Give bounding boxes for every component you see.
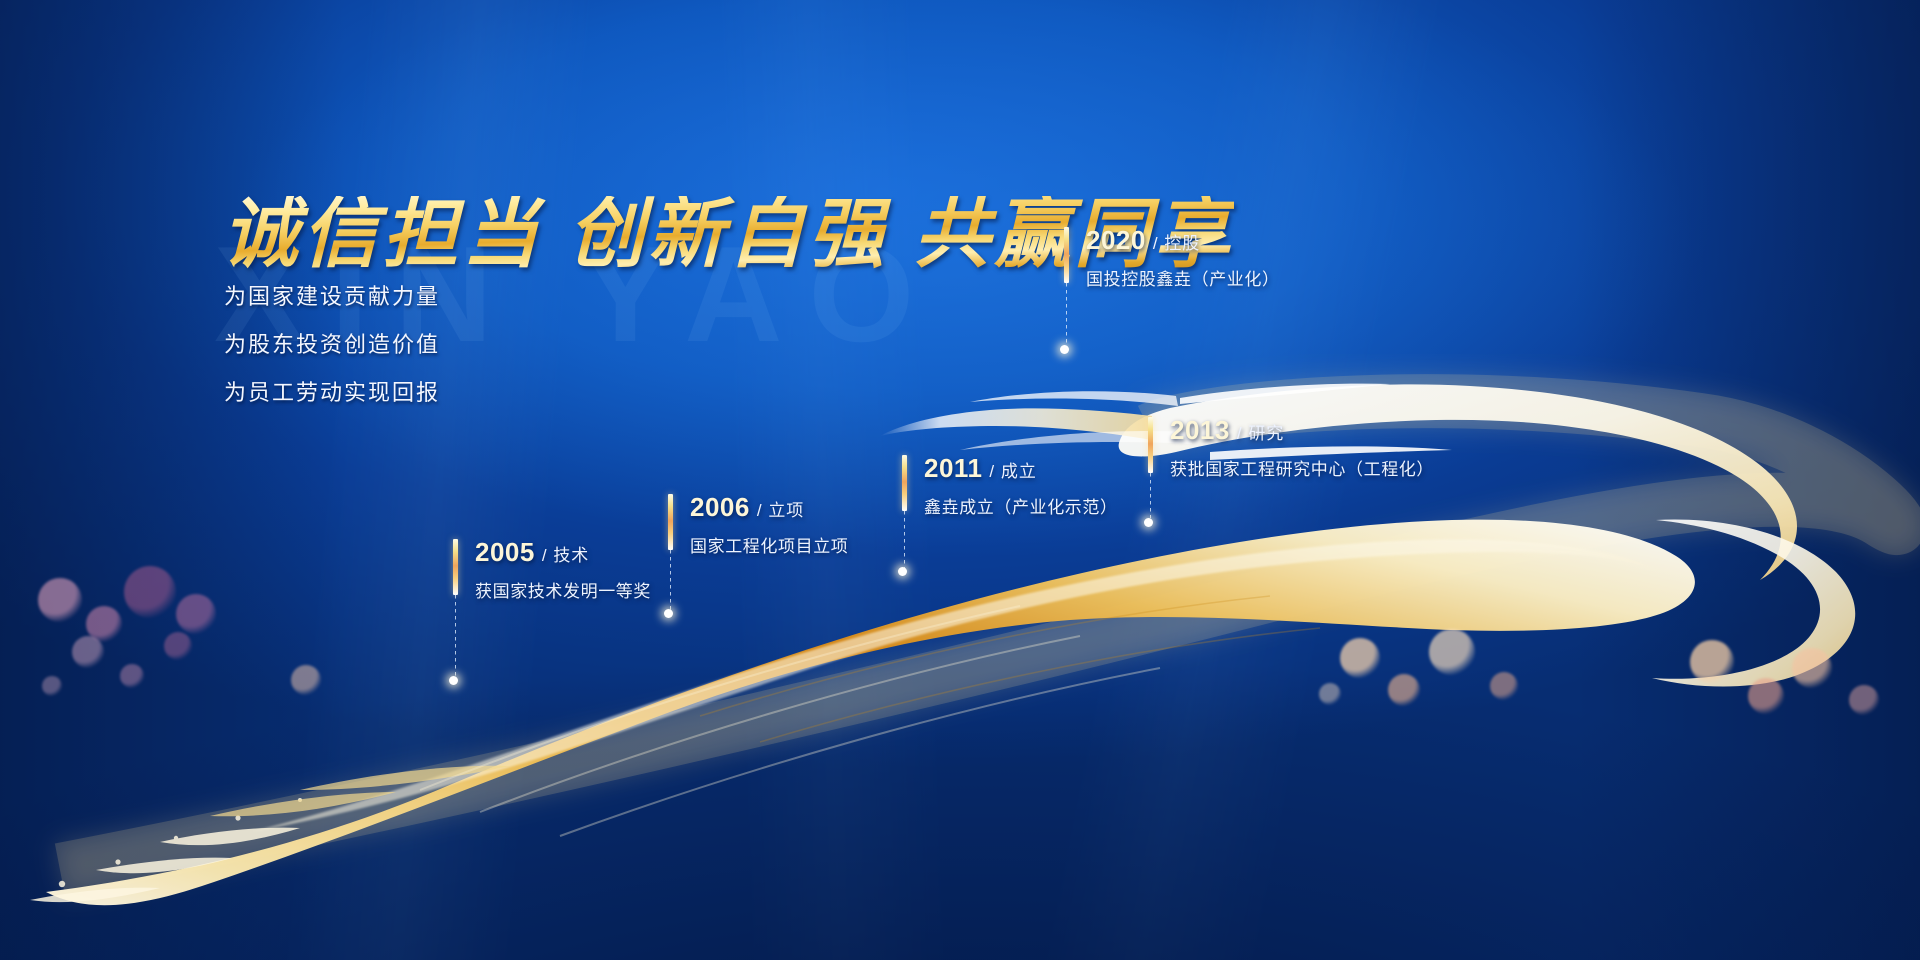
milestone-separator: / xyxy=(1237,424,1243,443)
subtitle-line-3: 为员工劳动实现回报 xyxy=(224,382,440,404)
milestone-node-dot[interactable] xyxy=(664,609,673,618)
milestone-description: 获国家技术发明一等奖 xyxy=(475,577,651,602)
milestone-text: 2013/ 研究获批国家工程研究中心（工程化） xyxy=(1170,415,1434,480)
milestone-heading: 2020/ 控股 xyxy=(1086,225,1280,256)
milestone-heading: 2005/ 技术 xyxy=(475,537,651,568)
subtitle-line-2: 为股东投资创造价值 xyxy=(224,334,440,356)
milestone-accent-bar xyxy=(668,494,673,550)
milestone-leader-line xyxy=(1150,473,1151,518)
milestone-category: / 控股 xyxy=(1153,234,1200,253)
subtitle-list: 为国家建设贡献力量 为股东投资创造价值 为员工劳动实现回报 xyxy=(224,286,440,430)
milestone-separator: / xyxy=(757,501,763,520)
page-title: 诚信担当创新自强共赢同享 xyxy=(222,196,1234,272)
milestone-description: 国投控股鑫垚（产业化） xyxy=(1086,265,1280,290)
milestone-node-dot[interactable] xyxy=(1060,345,1069,354)
milestone-leader-line xyxy=(1066,283,1067,346)
milestone-category: / 立项 xyxy=(757,501,804,520)
milestone-category-label: 成立 xyxy=(1001,462,1037,481)
milestone-description: 国家工程化项目立项 xyxy=(690,532,848,557)
milestone-heading: 2013/ 研究 xyxy=(1170,415,1434,446)
milestone-leader-line xyxy=(904,511,905,568)
headline-part-1: 诚信担当 xyxy=(222,189,542,278)
milestone-year: 2013 xyxy=(1170,415,1230,445)
milestone-leader-line xyxy=(455,595,456,677)
milestone-node-dot[interactable] xyxy=(1144,518,1153,527)
milestone-separator: / xyxy=(1153,234,1159,253)
milestone-category-label: 技术 xyxy=(553,546,589,565)
milestone-node-dot[interactable] xyxy=(449,676,458,685)
milestone-text: 2006/ 立项国家工程化项目立项 xyxy=(690,492,848,557)
milestone-category-label: 立项 xyxy=(768,501,804,520)
milestone-category: / 研究 xyxy=(1237,424,1284,443)
milestone-heading: 2006/ 立项 xyxy=(690,492,848,523)
milestone-node-dot[interactable] xyxy=(898,567,907,576)
milestone-year: 2006 xyxy=(690,492,750,522)
milestone-description: 获批国家工程研究中心（工程化） xyxy=(1170,455,1434,480)
milestone-accent-bar xyxy=(453,539,458,595)
headline-part-2: 创新自强 xyxy=(568,189,888,278)
milestone-year: 2020 xyxy=(1086,225,1146,255)
milestone-category: / 成立 xyxy=(989,462,1036,481)
banner-canvas: XIN YAO 诚信担当创新自强共赢同享 为国家建设贡献力量 为股东投资创造价值… xyxy=(0,0,1920,960)
subtitle-line-1: 为国家建设贡献力量 xyxy=(224,286,440,308)
milestone-category-label: 控股 xyxy=(1164,234,1200,253)
milestone-accent-bar xyxy=(1148,417,1153,473)
milestone-category: / 技术 xyxy=(542,546,589,565)
milestone-year: 2005 xyxy=(475,537,535,567)
milestone-leader-line xyxy=(670,550,671,610)
milestone-text: 2020/ 控股国投控股鑫垚（产业化） xyxy=(1086,225,1280,290)
milestone-separator: / xyxy=(542,546,548,565)
milestone-accent-bar xyxy=(1064,227,1069,283)
milestone-text: 2005/ 技术获国家技术发明一等奖 xyxy=(475,537,651,602)
milestone-year: 2011 xyxy=(924,453,982,483)
milestone-separator: / xyxy=(989,462,995,481)
milestone-heading: 2011/ 成立 xyxy=(924,453,1118,484)
milestone-accent-bar xyxy=(902,455,907,511)
milestone-category-label: 研究 xyxy=(1248,424,1284,443)
milestone-description: 鑫垚成立（产业化示范） xyxy=(924,493,1118,518)
milestone-text: 2011/ 成立鑫垚成立（产业化示范） xyxy=(924,453,1118,518)
